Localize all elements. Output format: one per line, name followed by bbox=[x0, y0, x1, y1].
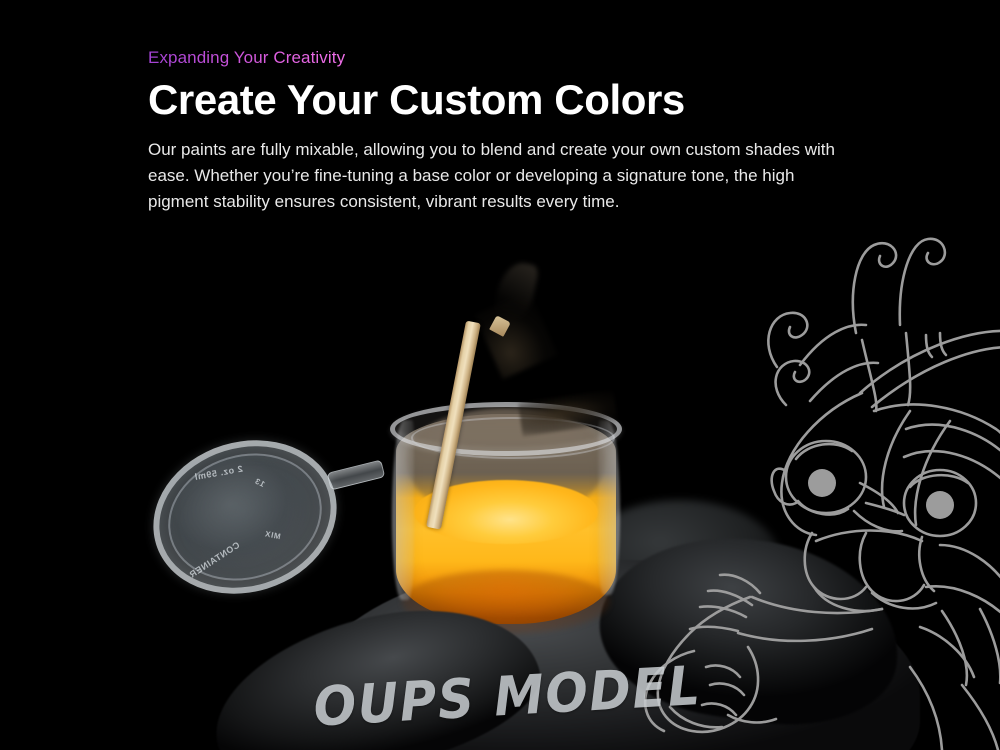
eyebrow-text: Expanding Your Creativity bbox=[148, 48, 345, 68]
eyebrow-wrap: Expanding Your Creativity bbox=[148, 48, 868, 77]
cup-wall-highlight-left bbox=[392, 420, 414, 600]
slide-canvas: 2 oz. 59ml 13 CONTAINER MIX bbox=[0, 0, 1000, 750]
hero-text-block: Expanding Your Creativity Create Your Cu… bbox=[148, 48, 868, 215]
stick-shadow-smudge bbox=[474, 291, 557, 379]
lid-hinge-tab bbox=[327, 459, 386, 490]
body-paragraph: Our paints are fully mixable, allowing y… bbox=[148, 137, 853, 215]
page-title: Create Your Custom Colors bbox=[148, 77, 868, 122]
cup-lid: 2 oz. 59ml 13 CONTAINER MIX bbox=[152, 442, 338, 592]
paint-cup bbox=[388, 402, 624, 632]
